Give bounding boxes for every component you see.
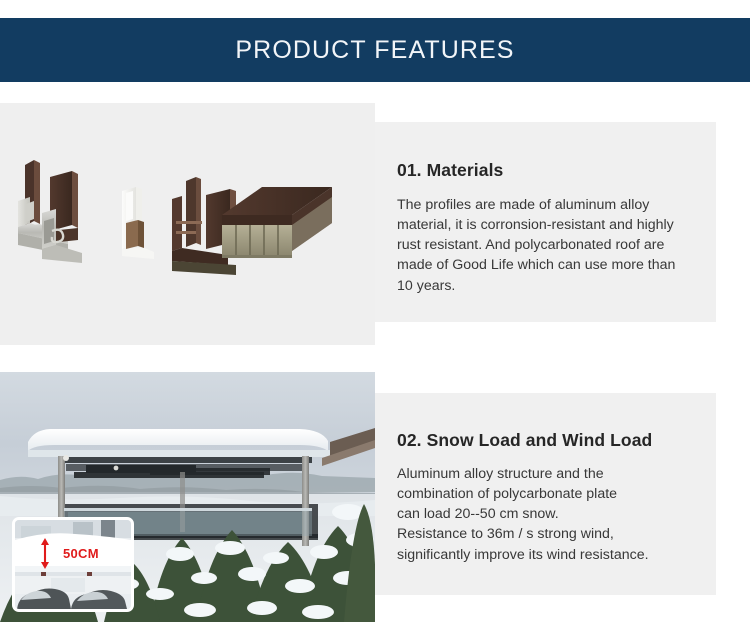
snow-depth-label: 50CM <box>63 546 99 561</box>
feature-1-text-panel: 01. Materials The profiles are made of a… <box>375 122 716 322</box>
page-title: PRODUCT FEATURES <box>235 36 514 65</box>
feature-2-heading: 02. Snow Load and Wind Load <box>397 430 694 451</box>
snow-depth-inset-image <box>15 520 131 609</box>
feature-2-body: Aluminum alloy structure and the combina… <box>397 464 694 565</box>
aluminum-profiles-image <box>0 103 375 345</box>
feature-2-text-panel: 02. Snow Load and Wind Load Aluminum all… <box>375 393 716 595</box>
snow-depth-inset: 50CM <box>12 517 134 612</box>
feature-1-image-panel <box>0 103 375 345</box>
feature-1-heading: 01. Materials <box>397 160 694 181</box>
feature-2-image-panel: 50CM <box>0 372 375 622</box>
page-header-band: PRODUCT FEATURES <box>0 18 750 82</box>
feature-1-body: The profiles are made of aluminum alloy … <box>397 195 694 296</box>
